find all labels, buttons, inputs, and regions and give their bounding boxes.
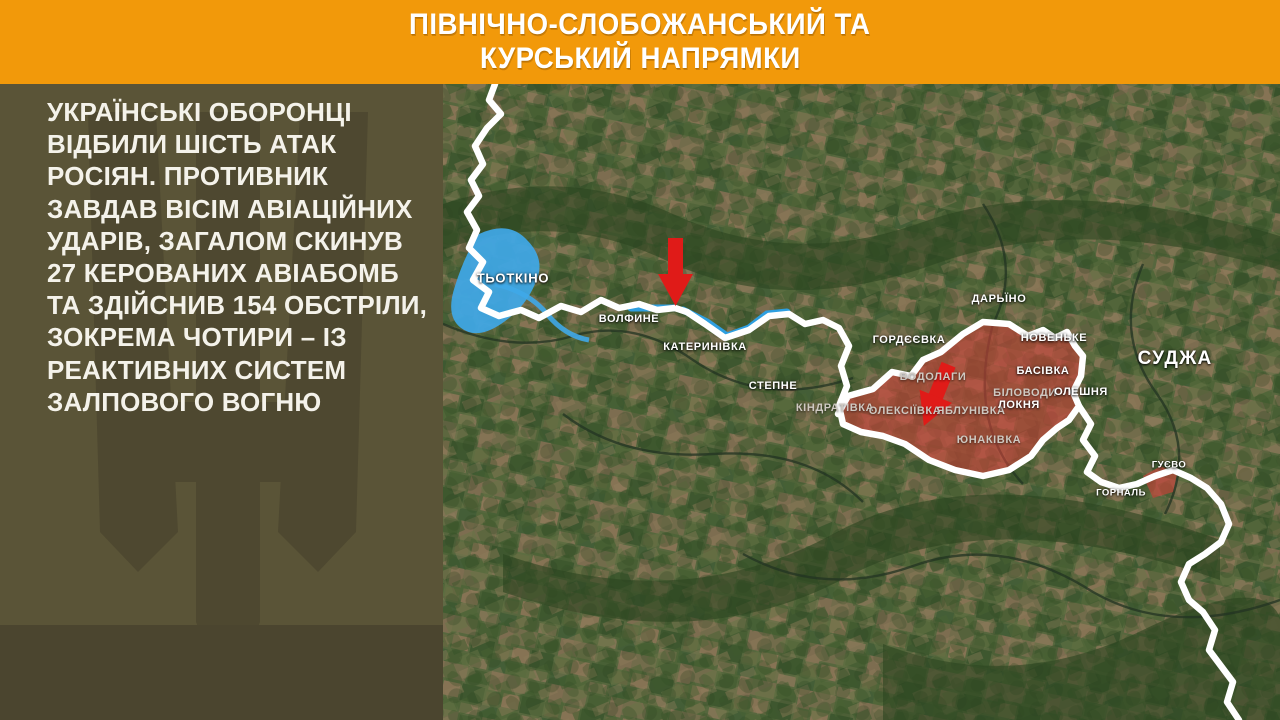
panel-line: УДАРІВ, ЗАГАЛОМ СКИНУВ [47, 225, 437, 257]
panel-line: ЗАВДАВ ВІСІМ АВІАЦІЙНИХ [47, 193, 437, 225]
summary-panel: УКРАЇНСЬКІ ОБОРОНЦІ ВІДБИЛИ ШІСТЬ АТАК Р… [0, 84, 443, 720]
panel-bottom-band [0, 625, 443, 720]
panel-line: РЕАКТИВНИХ СИСТЕМ [47, 354, 437, 386]
header-banner: ПІВНІЧНО-СЛОБОЖАНСЬКИЙ ТА КУРСЬКИЙ НАПРЯ… [0, 0, 1280, 84]
header-title-line-1: ПІВНІЧНО-СЛОБОЖАНСЬКИЙ ТА [409, 8, 870, 42]
panel-line: ТА ЗДІЙСНИВ 154 ОБСТРІЛИ, [47, 289, 437, 321]
map-area[interactable]: ТЬОТКІНО ВОЛФИНЕ КАТЕРИНІВКА СТЕПНЕ КІНД… [443, 84, 1280, 720]
panel-line: УКРАЇНСЬКІ ОБОРОНЦІ [47, 96, 437, 128]
panel-line: ЗОКРЕМА ЧОТИРИ – ІЗ [47, 321, 437, 353]
panel-line: ЗАЛПОВОГО ВОГНЮ [47, 386, 437, 418]
panel-line: ВІДБИЛИ ШІСТЬ АТАК [47, 128, 437, 160]
panel-line: 27 КЕРОВАНИХ АВІАБОМБ [47, 257, 437, 289]
header-title-line-2: КУРСЬКИЙ НАПРЯМКИ [480, 42, 801, 76]
map-canvas [443, 84, 1280, 720]
panel-line: РОСІЯН. ПРОТИВНИК [47, 160, 437, 192]
panel-body-text: УКРАЇНСЬКІ ОБОРОНЦІ ВІДБИЛИ ШІСТЬ АТАК Р… [47, 96, 437, 418]
infographic-root: ПІВНІЧНО-СЛОБОЖАНСЬКИЙ ТА КУРСЬКИЙ НАПРЯ… [0, 0, 1280, 720]
